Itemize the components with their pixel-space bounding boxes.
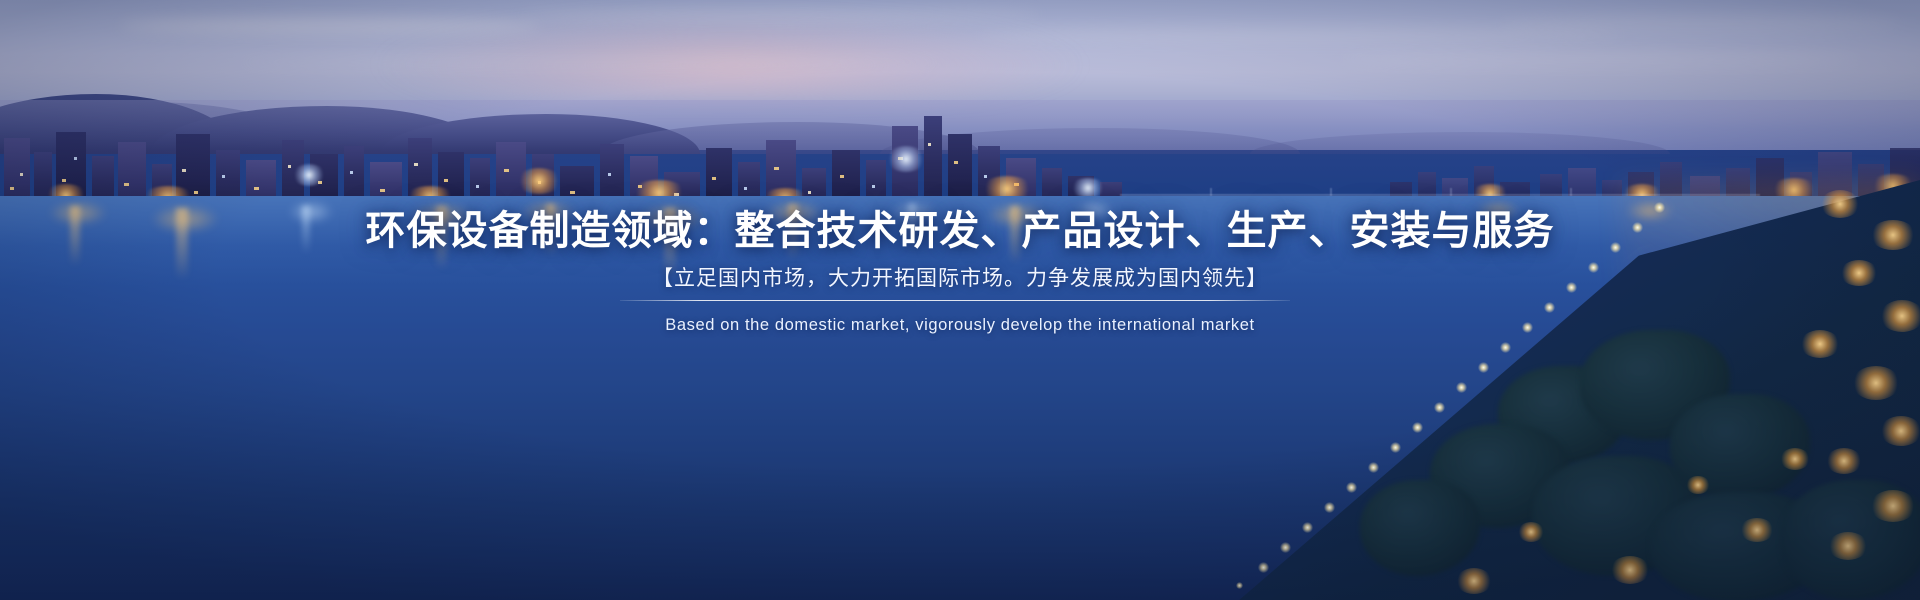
- vignette-overlay: [0, 0, 1920, 600]
- hero-banner: 环保设备制造领域：整合技术研发、产品设计、生产、安装与服务 【立足国内市场，大力…: [0, 0, 1920, 600]
